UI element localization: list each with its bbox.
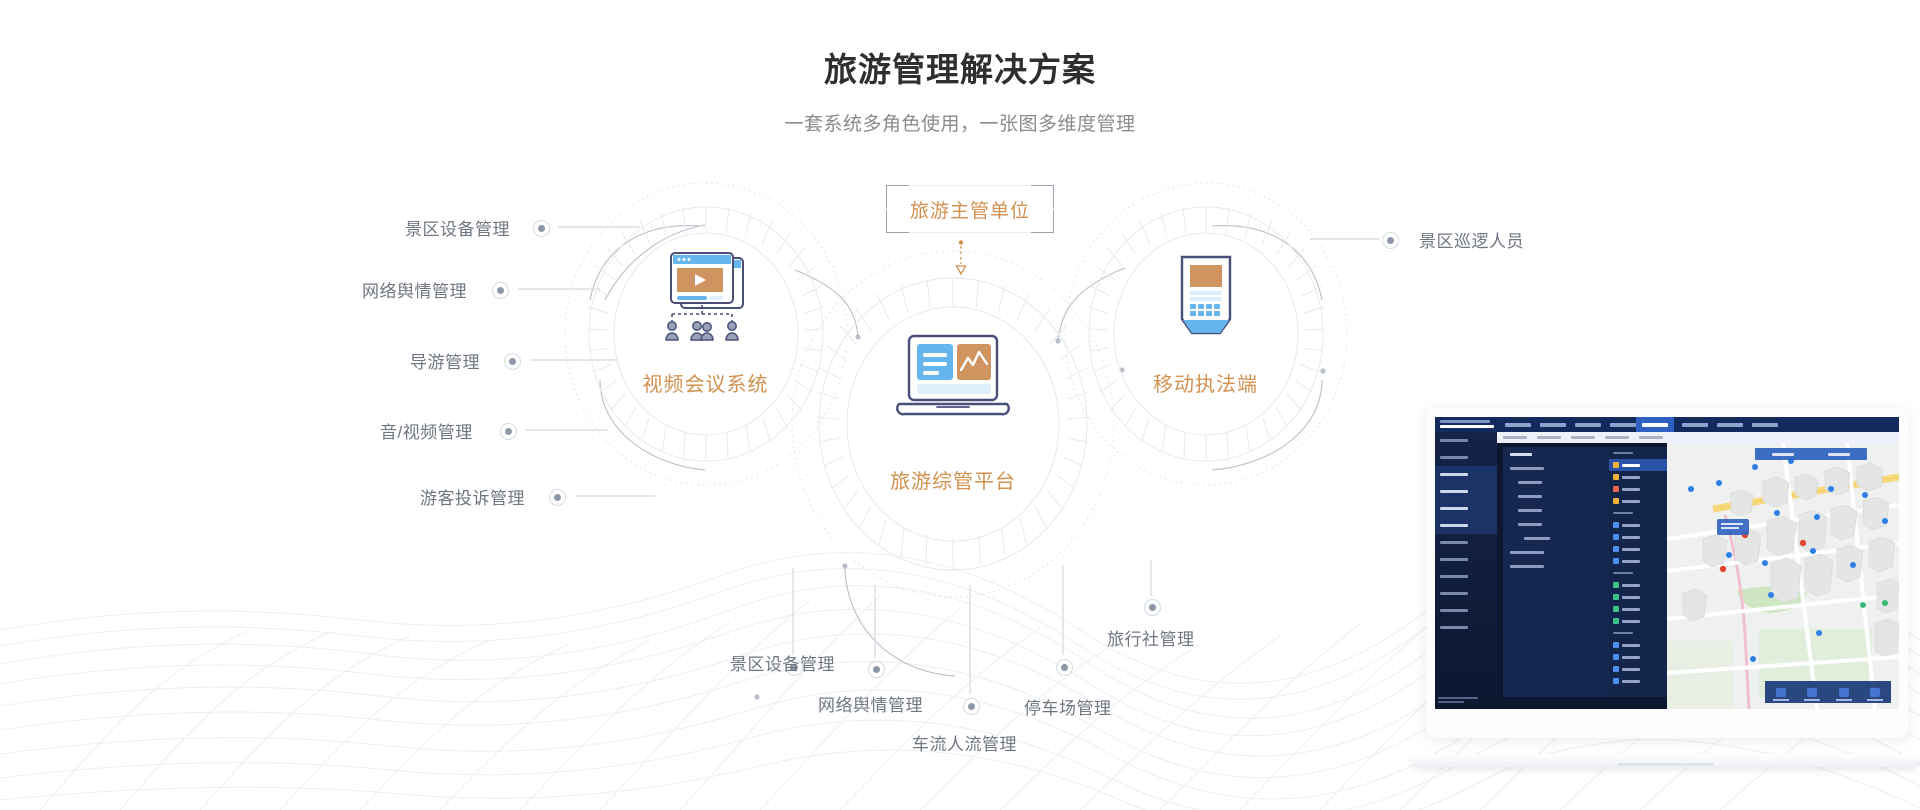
category-item[interactable]	[1609, 639, 1667, 651]
sidebar-item[interactable]	[1435, 534, 1497, 551]
category-icon	[1613, 534, 1619, 540]
leader-dot-left-2[interactable]	[504, 353, 521, 370]
category-icon	[1613, 618, 1619, 624]
laptop-mockup	[1412, 408, 1920, 793]
category-label	[1622, 476, 1640, 479]
toolbar-item-label	[1836, 699, 1852, 701]
leader-dot-right-0[interactable]	[1382, 232, 1399, 249]
category-icon	[1613, 582, 1619, 588]
category-item[interactable]	[1609, 495, 1667, 507]
nav-item[interactable]	[1575, 423, 1601, 427]
category-label	[1622, 464, 1640, 467]
tree-node-label	[1510, 565, 1544, 568]
dot-core	[538, 225, 545, 232]
nav-item[interactable]	[1610, 423, 1636, 427]
category-item[interactable]	[1609, 663, 1667, 675]
footer-line	[1438, 701, 1464, 703]
toolbar-item[interactable]	[1834, 688, 1854, 701]
sidebar-item-label	[1440, 456, 1468, 459]
nav-item-active[interactable]	[1636, 417, 1674, 432]
authority-card: 旅游主管单位	[886, 185, 1054, 233]
card-corner-top-left	[886, 185, 909, 208]
category-group-header	[1609, 627, 1667, 639]
breadcrumb-tab-bar[interactable]	[1497, 432, 1899, 443]
tree-node[interactable]	[1503, 531, 1609, 545]
tree-node[interactable]	[1503, 475, 1609, 489]
tab-chip[interactable]	[1639, 436, 1663, 439]
tree-node-label	[1518, 495, 1542, 498]
leader-label-left-4: 游客投诉管理	[420, 484, 525, 509]
sidebar-item[interactable]	[1435, 568, 1497, 585]
category-label	[1622, 500, 1640, 503]
category-label	[1622, 644, 1640, 647]
card-corner-top-right	[1031, 185, 1054, 208]
category-item-selected[interactable]	[1609, 459, 1667, 471]
nav-item[interactable]	[1717, 423, 1743, 427]
leader-dot-bottom-2[interactable]	[963, 698, 980, 715]
laptop-base	[1412, 754, 1920, 767]
toolbar-item[interactable]	[1865, 688, 1885, 701]
category-group-label	[1613, 452, 1633, 454]
toolbar-item-label	[1867, 699, 1883, 701]
laptop-screen	[1435, 417, 1899, 709]
leader-label-left-3: 音/视频管理	[380, 418, 473, 443]
category-item[interactable]	[1609, 651, 1667, 663]
wheel-label-video: 视频会议系统	[598, 368, 813, 397]
category-icon	[1613, 558, 1619, 564]
sidebar-subitem[interactable]	[1435, 483, 1497, 500]
map-canvas	[1667, 443, 1899, 709]
nav-item-active-label	[1642, 423, 1668, 427]
tab-chip[interactable]	[1605, 436, 1629, 439]
category-label	[1622, 524, 1640, 527]
leader-dot-left-1[interactable]	[492, 282, 509, 299]
laptop-dashboard-icon	[891, 332, 1015, 428]
leader-label-bottom-2: 车流人流管理	[912, 730, 1017, 755]
tourism-management-dashboard	[1435, 417, 1899, 709]
sidebar-item-label	[1440, 575, 1468, 578]
category-item[interactable]	[1609, 675, 1667, 687]
toolbar-item[interactable]	[1802, 688, 1822, 701]
category-icon	[1613, 474, 1619, 480]
category-icon	[1613, 642, 1619, 648]
leader-label-left-1: 网络舆情管理	[362, 277, 467, 302]
category-icon	[1613, 522, 1619, 528]
card-corner-bottom-right	[1031, 210, 1054, 233]
category-group-header	[1609, 447, 1667, 459]
sidebar-item-label	[1440, 524, 1468, 527]
category-label	[1622, 584, 1640, 587]
map-view-toggle[interactable]	[1811, 448, 1867, 460]
leader-dot-left-0[interactable]	[533, 220, 550, 237]
tree-node[interactable]	[1503, 517, 1609, 531]
category-group-label	[1613, 512, 1633, 514]
category-icon	[1613, 486, 1619, 492]
tab-chip[interactable]	[1571, 436, 1595, 439]
category-item[interactable]	[1609, 579, 1667, 591]
category-label	[1622, 680, 1640, 683]
dot-core	[497, 287, 504, 294]
nav-item[interactable]	[1540, 423, 1566, 427]
category-item[interactable]	[1609, 531, 1667, 543]
sidebar-item[interactable]	[1435, 585, 1497, 602]
left-sidebar-menu[interactable]	[1435, 432, 1497, 709]
category-label	[1622, 536, 1640, 539]
card-edge-top	[908, 185, 1032, 186]
tree-group[interactable]	[1503, 559, 1609, 573]
sidebar-subitem[interactable]	[1435, 500, 1497, 517]
sidebar-item[interactable]	[1435, 602, 1497, 619]
sidebar-item-label	[1440, 473, 1468, 476]
category-group-header	[1609, 507, 1667, 519]
page-subtitle: 一套系统多角色使用，一张图多维度管理	[0, 109, 1920, 136]
category-item[interactable]	[1609, 519, 1667, 531]
tree-group[interactable]	[1503, 461, 1609, 475]
authority-label: 旅游主管单位	[910, 196, 1030, 223]
tree-node-label	[1518, 481, 1542, 484]
logo-line-2	[1440, 425, 1494, 428]
dot-core	[1387, 237, 1394, 244]
tree-node-label	[1518, 523, 1542, 526]
tree-node[interactable]	[1503, 489, 1609, 503]
category-label	[1622, 488, 1640, 491]
toolbar-item-icon	[1870, 688, 1880, 697]
category-label	[1622, 620, 1640, 623]
leader-label-bottom-1: 网络舆情管理	[818, 691, 923, 716]
map-layer-select-label	[1772, 453, 1794, 456]
tab-chip[interactable]	[1503, 436, 1527, 439]
sidebar-item[interactable]	[1435, 449, 1497, 466]
sidebar-item-label	[1440, 558, 1468, 561]
tree-node-label	[1510, 551, 1544, 554]
toolbar-item-icon	[1839, 688, 1849, 697]
category-label	[1622, 560, 1640, 563]
category-icon	[1613, 666, 1619, 672]
tab-chip[interactable]	[1537, 436, 1561, 439]
sidebar-subitem[interactable]	[1435, 517, 1497, 534]
category-label	[1622, 608, 1640, 611]
leader-label-bottom-0: 景区设备管理	[730, 650, 835, 675]
sidebar-item[interactable]	[1435, 551, 1497, 568]
tree-node-label	[1518, 509, 1542, 512]
category-icon	[1613, 678, 1619, 684]
wheel-tourism-platform[interactable]: 旅游综管平台	[828, 290, 1078, 558]
nav-item[interactable]	[1505, 423, 1531, 427]
toolbar-item-label	[1804, 699, 1820, 701]
leader-dot-bottom-3[interactable]	[1056, 659, 1073, 676]
resource-category-panel[interactable]	[1609, 447, 1667, 697]
category-label	[1622, 596, 1640, 599]
footer-line	[1438, 697, 1478, 699]
card-edge-bottom	[908, 232, 1032, 233]
sidebar-item-label	[1440, 490, 1468, 493]
leader-label-bottom-4: 旅行社管理	[1107, 625, 1195, 650]
leader-label-left-2: 导游管理	[410, 348, 480, 373]
category-label	[1622, 548, 1640, 551]
map-bottom-toolbar[interactable]	[1765, 681, 1891, 703]
category-item[interactable]	[1609, 615, 1667, 627]
tree-header-label	[1510, 453, 1532, 456]
category-icon	[1613, 462, 1619, 468]
dotted-down-arrow-icon	[955, 240, 967, 276]
wheel-label-mobile: 移动执法端	[1098, 368, 1313, 397]
leader-dot-bottom-1[interactable]	[868, 661, 885, 678]
app-logo	[1435, 420, 1497, 429]
leader-label-bottom-3: 停车场管理	[1024, 694, 1112, 719]
leader-dot-left-3[interactable]	[500, 423, 517, 440]
category-icon	[1613, 498, 1619, 504]
leader-dot-left-4[interactable]	[549, 489, 566, 506]
map-layer-controls[interactable]	[1755, 448, 1867, 460]
category-icon	[1613, 546, 1619, 552]
tree-node[interactable]	[1503, 503, 1609, 517]
dot-core	[554, 494, 561, 501]
category-group-label	[1613, 632, 1633, 634]
3d-map-viewport[interactable]	[1667, 443, 1899, 709]
solution-diagram-page: 旅游管理解决方案 一套系统多角色使用，一张图多维度管理 旅游主管单位	[0, 0, 1920, 810]
sidebar-item-label	[1440, 626, 1468, 629]
leader-dot-bottom-4[interactable]	[1144, 599, 1161, 616]
tree-panel-header	[1503, 447, 1609, 461]
category-item[interactable]	[1609, 591, 1667, 603]
sidebar-item-label	[1440, 592, 1468, 595]
wheel-mobile-enforcement[interactable]: 移动执法端	[1098, 218, 1313, 450]
leader-label-right-0: 景区巡逻人员	[1419, 227, 1524, 252]
category-item[interactable]	[1609, 603, 1667, 615]
card-corner-bottom-left	[886, 210, 909, 233]
sidebar-item-label	[1440, 541, 1468, 544]
toolbar-item-icon	[1807, 688, 1817, 697]
tree-group[interactable]	[1503, 545, 1609, 559]
sidebar-item-expanded[interactable]	[1435, 466, 1497, 483]
leader-label-left-0: 景区设备管理	[405, 215, 510, 240]
dot-core	[1149, 604, 1156, 611]
top-navigation-bar[interactable]	[1435, 417, 1899, 432]
category-item[interactable]	[1609, 483, 1667, 495]
tree-node-label	[1524, 537, 1550, 540]
category-item[interactable]	[1609, 543, 1667, 555]
toolbar-item-label	[1773, 699, 1789, 701]
logo-line-1	[1440, 420, 1490, 423]
map-layer-select[interactable]	[1755, 448, 1811, 460]
category-label	[1622, 656, 1640, 659]
map-view-toggle-label	[1828, 453, 1850, 456]
category-group-header	[1609, 567, 1667, 579]
wheel-label-platform: 旅游综管平台	[828, 465, 1078, 494]
sidebar-item[interactable]	[1435, 619, 1497, 636]
nav-items[interactable]	[1497, 423, 1636, 427]
dot-core	[509, 358, 516, 365]
category-icon	[1613, 654, 1619, 660]
handheld-terminal-icon	[1170, 251, 1242, 347]
dot-core	[873, 666, 880, 673]
tree-node-label	[1510, 467, 1544, 470]
dot-core	[968, 703, 975, 710]
category-icon	[1613, 606, 1619, 612]
category-item[interactable]	[1609, 555, 1667, 567]
sidebar-item-label	[1440, 507, 1468, 510]
scenic-area-tree-panel[interactable]	[1503, 447, 1609, 697]
nav-item[interactable]	[1752, 423, 1778, 427]
category-group-label	[1613, 572, 1633, 574]
wheel-video-conference[interactable]: 视频会议系统	[598, 218, 813, 450]
laptop-lid	[1426, 408, 1908, 738]
sidebar-item-label	[1440, 609, 1468, 612]
category-label	[1622, 668, 1640, 671]
category-item[interactable]	[1609, 471, 1667, 483]
sidebar-item-label	[1440, 439, 1468, 442]
video-conference-icon	[655, 251, 757, 347]
sidebar-item[interactable]	[1435, 432, 1497, 449]
nav-item[interactable]	[1682, 423, 1708, 427]
dot-core	[1061, 664, 1068, 671]
category-icon	[1613, 594, 1619, 600]
toolbar-item[interactable]	[1771, 688, 1791, 701]
toolbar-item-icon	[1776, 688, 1786, 697]
page-title: 旅游管理解决方案	[0, 43, 1920, 91]
sidebar-footer	[1438, 697, 1494, 705]
nav-items-right[interactable]	[1674, 423, 1778, 427]
dot-core	[505, 428, 512, 435]
